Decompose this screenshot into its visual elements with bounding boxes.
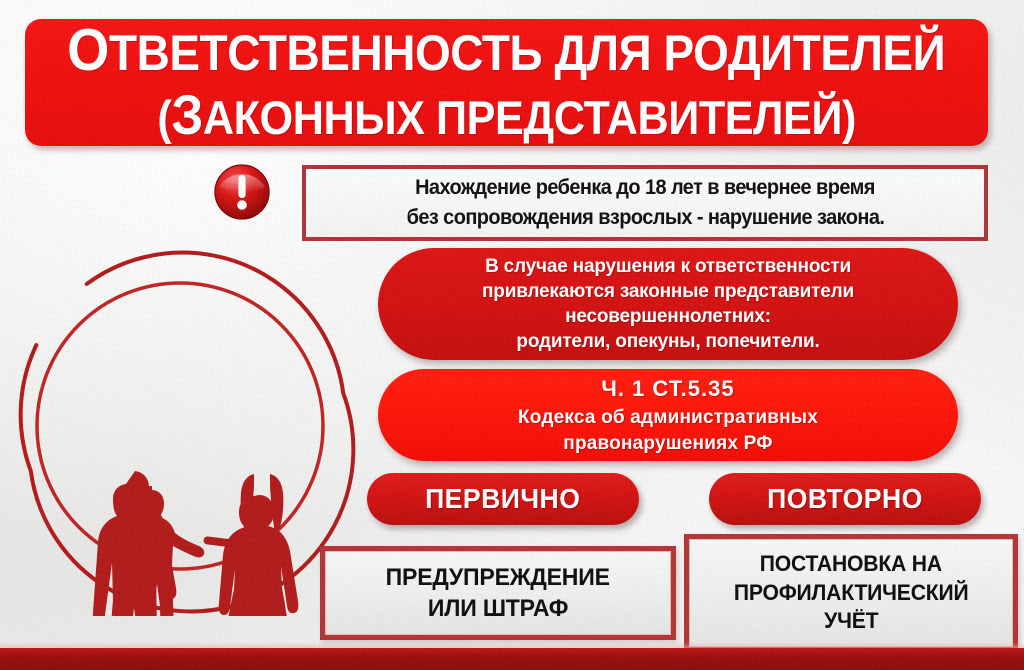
- article-reference-block: Ч. 1 СТ.5.35 Кодекса об административных…: [378, 369, 958, 461]
- article-number: Ч. 1 СТ.5.35: [601, 374, 734, 403]
- poster-canvas: ОТВЕТСТВЕННОСТЬ ДЛЯ РОДИТЕЛЕЙ (ЗАКОННЫХ …: [0, 0, 1024, 670]
- liability-line-2: привлекаются законные представители: [482, 279, 854, 304]
- liability-block: В случае нарушения к ответственности при…: [378, 248, 958, 360]
- family-silhouette-icon: [8, 236, 368, 616]
- outcome-repeat-box: ПОСТАНОВКА НА ПРОФИЛАКТИЧЕСКИЙ УЧЁТ: [684, 534, 1018, 652]
- outcome-repeat-line-1: ПОСТАНОВКА НА: [760, 550, 942, 579]
- poster-title-line-2: (ЗАКОННЫХ ПРЕДСТАВИТЕЛЕЙ): [157, 88, 856, 143]
- warning-line-2: без сопровождения взрослых - нарушение з…: [406, 203, 884, 233]
- poster-title-banner: ОТВЕТСТВЕННОСТЬ ДЛЯ РОДИТЕЛЕЙ (ЗАКОННЫХ …: [25, 19, 988, 146]
- outcome-primary-line-2: ИЛИ ШТРАФ: [428, 593, 568, 624]
- article-code-line-2: правонарушениях РФ: [563, 431, 772, 456]
- article-code-line-1: Кодекса об административных: [518, 405, 818, 430]
- pill-repeat-label: ПОВТОРНО: [767, 483, 923, 515]
- pill-repeat-offense: ПОВТОРНО: [709, 473, 981, 525]
- outcome-primary-box: ПРЕДУПРЕЖДЕНИЕ ИЛИ ШТРАФ: [320, 546, 676, 640]
- outcome-primary-line-1: ПРЕДУПРЕЖДЕНИЕ: [386, 562, 610, 593]
- outcome-repeat-line-3: УЧЁТ: [824, 607, 878, 636]
- bottom-accent-bar: [0, 648, 1024, 670]
- liability-line-1: В случае нарушения к ответственности: [485, 254, 851, 279]
- poster-title-line-1: ОТВЕТСТВЕННОСТЬ ДЛЯ РОДИТЕЛЕЙ: [67, 21, 945, 80]
- exclamation-circle-icon: [213, 163, 271, 221]
- warning-line-1: Нахождение ребенка до 18 лет в вечернее …: [415, 173, 875, 203]
- pill-primary-label: ПЕРВИЧНО: [425, 483, 580, 515]
- liability-line-4: родители, опекуны, попечители.: [516, 329, 819, 354]
- warning-statement-box: Нахождение ребенка до 18 лет в вечернее …: [302, 165, 988, 241]
- outcome-repeat-line-2: ПРОФИЛАКТИЧЕСКИЙ: [734, 579, 969, 608]
- liability-line-3: несовершеннолетних:: [565, 304, 771, 329]
- pill-primary-offense: ПЕРВИЧНО: [367, 473, 639, 525]
